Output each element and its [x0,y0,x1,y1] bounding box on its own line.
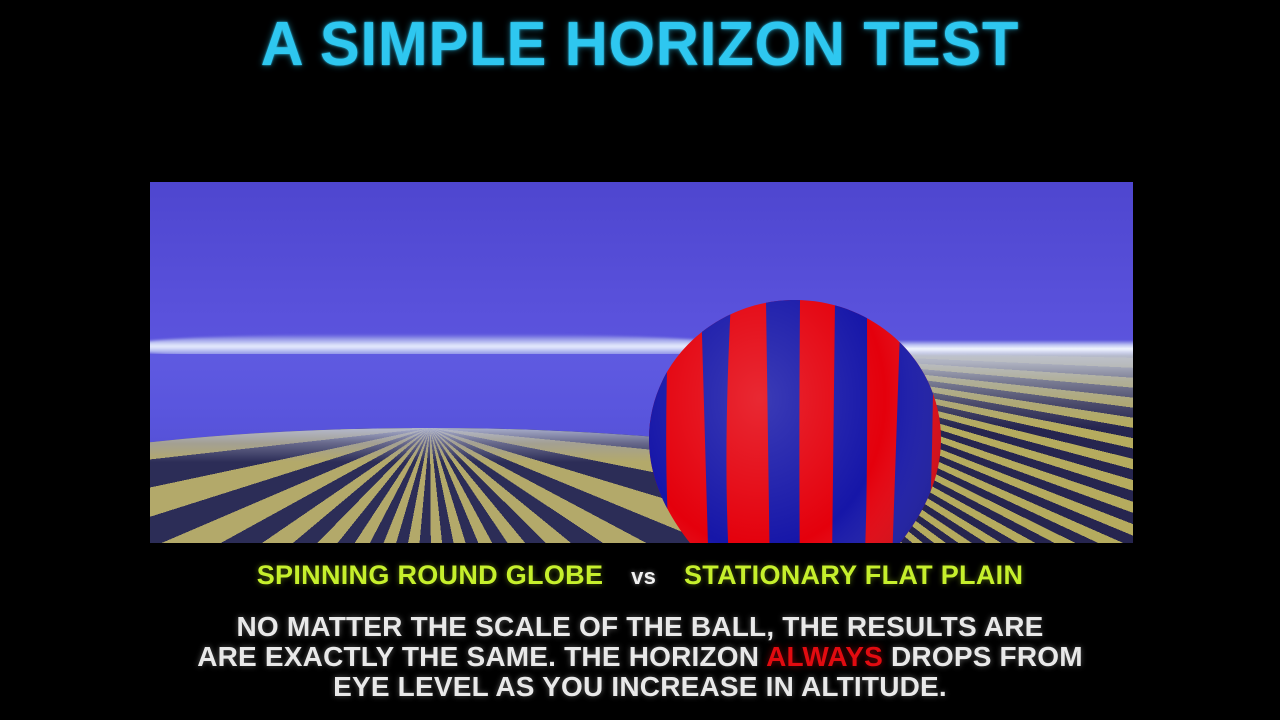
caption-line-3: EYE LEVEL AS YOU INCREASE IN ALTITUDE. [0,672,1280,702]
caption-highlight-always: ALWAYS [766,641,883,672]
hot-air-balloon [649,300,941,543]
comparison-subtitle: SPINNING ROUND GLOBE vs STATIONARY FLAT … [0,560,1280,591]
subtitle-left-label: SPINNING ROUND GLOBE [257,560,604,590]
subtitle-vs-label: vs [631,564,656,589]
caption-block: NO MATTER THE SCALE OF THE BALL, THE RES… [0,612,1280,702]
scene-image [150,182,1133,543]
globe-ground [150,428,706,543]
subtitle-right-label: STATIONARY FLAT PLAIN [684,560,1023,590]
page-title: A SIMPLE HORIZON TEST [26,14,1255,76]
caption-line-2-after: DROPS FROM [883,641,1083,672]
globe-ground-stripes [150,428,706,543]
caption-line-2: ARE EXACTLY THE SAME. THE HORIZON ALWAYS… [0,642,1280,672]
globe-half-panel [150,182,706,543]
caption-line-2-before: ARE EXACTLY THE SAME. THE HORIZON [197,641,766,672]
caption-line-1: NO MATTER THE SCALE OF THE BALL, THE RES… [0,612,1280,642]
balloon-envelope [649,300,941,543]
